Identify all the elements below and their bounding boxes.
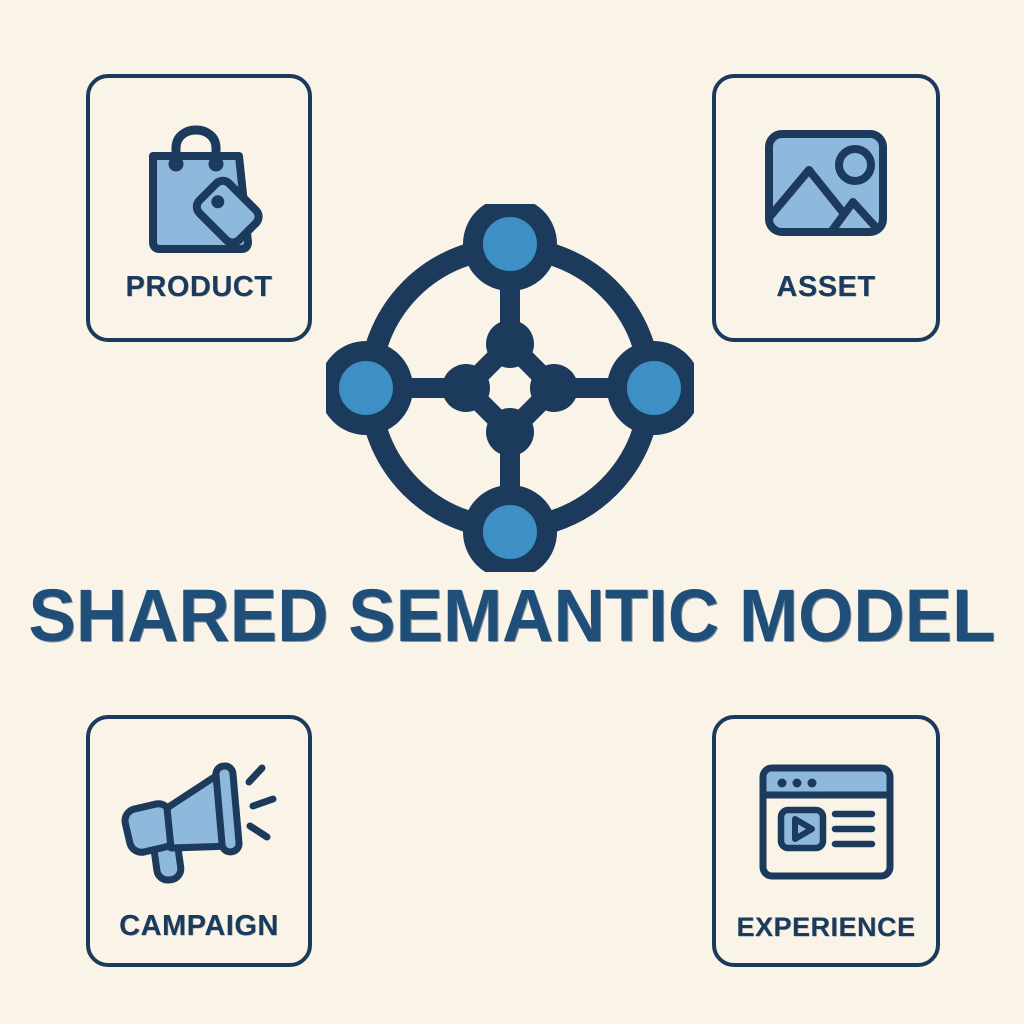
card-experience-label: EXPERIENCE <box>736 914 915 941</box>
hub-inner-node-north <box>486 320 534 368</box>
card-asset[interactable]: ASSET <box>712 74 940 342</box>
card-campaign[interactable]: CAMPAIGN <box>86 715 312 967</box>
shared-semantic-model-hub <box>326 204 694 572</box>
hub-outer-node-east <box>617 351 691 425</box>
card-campaign-label: CAMPAIGN <box>119 912 279 941</box>
card-product[interactable]: PRODUCT <box>86 74 312 342</box>
hub-inner-node-west <box>442 364 490 412</box>
hub-outer-node-west <box>329 351 403 425</box>
card-experience[interactable]: EXPERIENCE <box>712 715 940 967</box>
window-dot-3 <box>807 778 816 787</box>
card-product-label: PRODUCT <box>126 273 273 302</box>
campaign-icon-area <box>90 719 308 912</box>
browser-window-icon <box>749 754 904 894</box>
hub-inner-node-south <box>486 408 534 456</box>
window-dot-2 <box>792 778 801 787</box>
megaphone-icon <box>119 754 279 894</box>
network-hub-icon <box>326 204 694 572</box>
asset-icon-area <box>716 78 936 273</box>
hub-inner-node-east <box>530 364 578 412</box>
experience-icon-area <box>716 719 936 914</box>
diagram-canvas: PRODUCT ASSET <box>0 0 1024 1024</box>
card-asset-label: ASSET <box>776 273 875 302</box>
page-title: SHARED SEMANTIC MODEL <box>20 580 1003 652</box>
image-icon <box>751 108 901 258</box>
window-dot-1 <box>777 778 786 787</box>
hub-outer-node-south <box>473 495 547 569</box>
hub-outer-node-north <box>473 207 547 281</box>
product-icon-area <box>90 78 308 273</box>
shopping-bag-icon <box>124 108 274 258</box>
